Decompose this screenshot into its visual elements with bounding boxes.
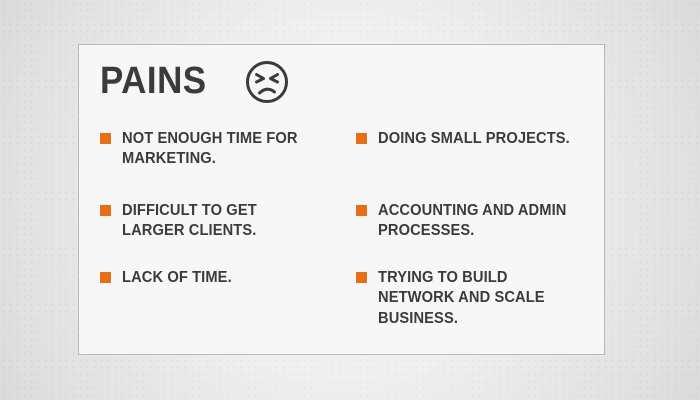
square-bullet-icon: [100, 272, 111, 283]
square-bullet-icon: [100, 133, 111, 144]
list-item: DOING SMALL PROJECTS.: [356, 129, 587, 201]
list-item-label: TRYING TO BUILD NETWORK AND SCALE BUSINE…: [378, 268, 579, 329]
list-item: LACK OF TIME.: [100, 268, 331, 288]
square-bullet-icon: [356, 133, 367, 144]
pains-card: PAINS NOT ENOUGH TIME FOR MARKETING.: [78, 44, 605, 355]
list-item: DIFFICULT TO GET LARGER CLIENTS.: [100, 201, 331, 268]
square-bullet-icon: [100, 205, 111, 216]
distressed-face-icon: [244, 57, 290, 105]
list-item-label: DIFFICULT TO GET LARGER CLIENTS.: [122, 201, 323, 242]
list-item-label: ACCOUNTING AND ADMIN PROCESSES.: [378, 201, 579, 242]
list-item-label: LACK OF TIME.: [122, 268, 232, 288]
list-item: ACCOUNTING AND ADMIN PROCESSES.: [356, 201, 587, 268]
pains-column-left: NOT ENOUGH TIME FOR MARKETING. DIFFICULT…: [100, 129, 331, 329]
list-item-label: DOING SMALL PROJECTS.: [378, 129, 570, 149]
pains-column-right: DOING SMALL PROJECTS. ACCOUNTING AND ADM…: [356, 129, 587, 329]
slide-canvas: PAINS NOT ENOUGH TIME FOR MARKETING.: [0, 0, 700, 400]
list-item: NOT ENOUGH TIME FOR MARKETING.: [100, 129, 331, 201]
list-item: TRYING TO BUILD NETWORK AND SCALE BUSINE…: [356, 268, 587, 329]
pains-columns: NOT ENOUGH TIME FOR MARKETING. DIFFICULT…: [100, 129, 587, 329]
page-title: PAINS: [100, 62, 207, 100]
square-bullet-icon: [356, 272, 367, 283]
list-item-label: NOT ENOUGH TIME FOR MARKETING.: [122, 129, 323, 170]
square-bullet-icon: [356, 205, 367, 216]
card-header: PAINS: [100, 57, 290, 105]
